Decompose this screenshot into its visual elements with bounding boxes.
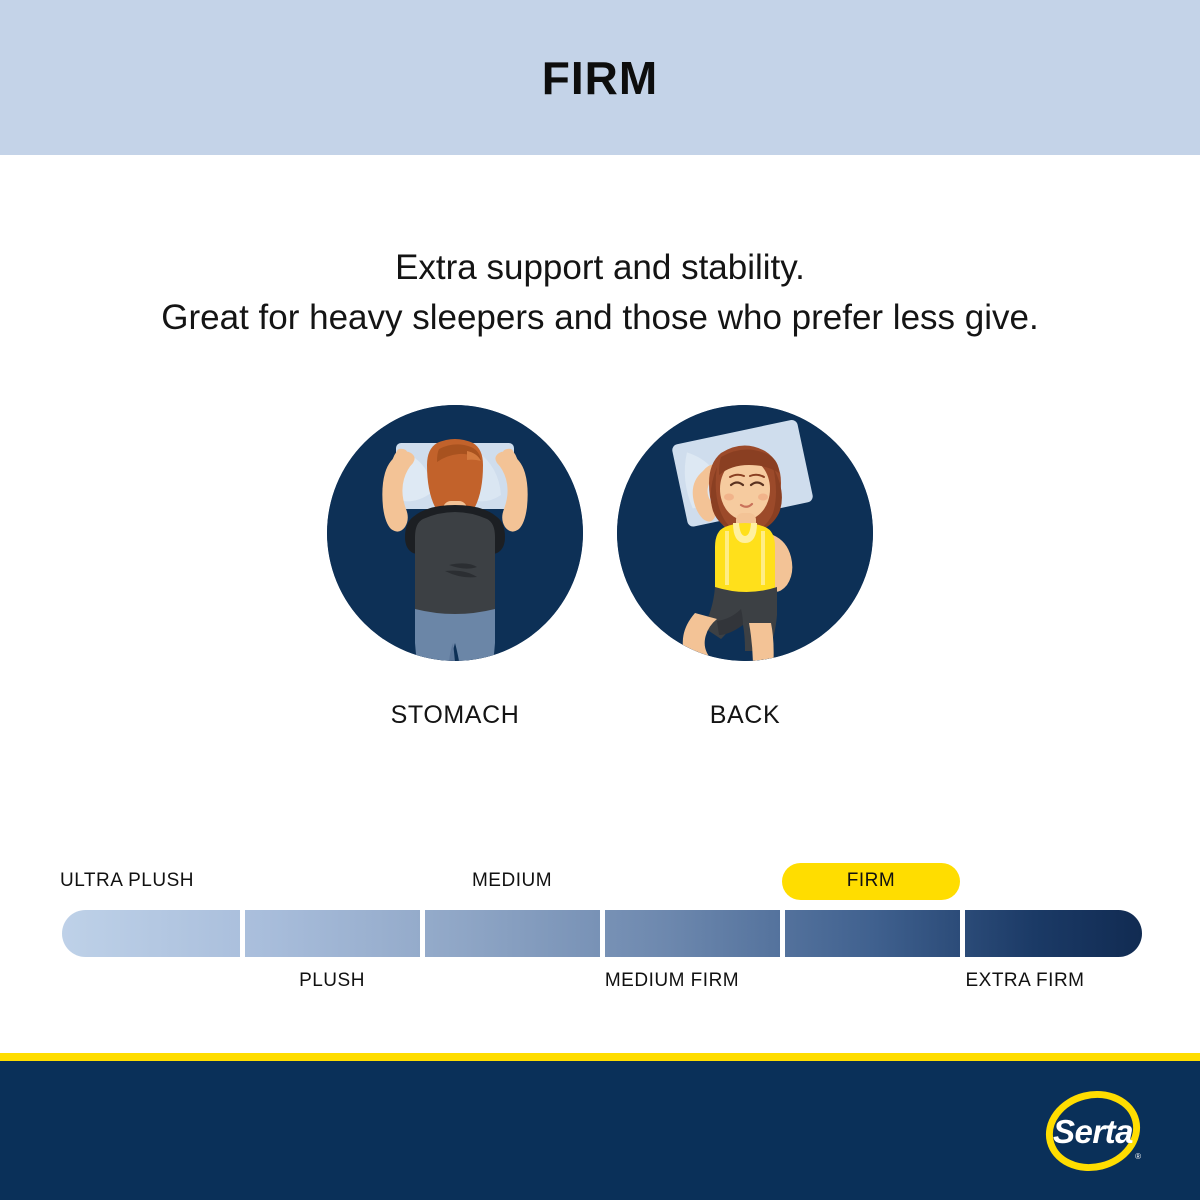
- bar-divider-3: [600, 910, 605, 957]
- footer-bar: Serta ®: [0, 1061, 1200, 1200]
- firmness-label-extra-firm[interactable]: EXTRA FIRM: [935, 970, 1115, 992]
- firmness-label-medium-firm[interactable]: MEDIUM FIRM: [582, 970, 762, 992]
- bar-divider-2: [420, 910, 425, 957]
- firmness-label-medium[interactable]: MEDIUM: [422, 870, 602, 892]
- firmness-label-plush[interactable]: PLUSH: [242, 970, 422, 992]
- serta-registered-mark: ®: [1135, 1152, 1141, 1161]
- page-title: FIRM: [542, 51, 658, 105]
- subtitle-block: Extra support and stability. Great for h…: [0, 243, 1200, 342]
- firmness-labels-top: ULTRA PLUSH MEDIUM FIRM: [0, 860, 1200, 902]
- firmness-label-ultra-plush[interactable]: ULTRA PLUSH: [60, 870, 194, 892]
- sleeper-card-back: BACK: [615, 405, 875, 750]
- bar-divider-1: [240, 910, 245, 957]
- page-header: FIRM: [0, 0, 1200, 155]
- serta-logo-text: Serta: [1041, 1082, 1145, 1182]
- firmness-labels-bottom: PLUSH MEDIUM FIRM EXTRA FIRM: [0, 964, 1200, 1000]
- firmness-label-firm-active[interactable]: FIRM: [782, 863, 960, 900]
- bar-divider-5: [960, 910, 965, 957]
- firmness-scale: ULTRA PLUSH MEDIUM FIRM PLUSH MEDIUM FIR…: [0, 860, 1200, 1005]
- sleep-position-gallery: STOMACH: [0, 405, 1200, 750]
- sleeper-caption-back: BACK: [710, 701, 780, 730]
- subtitle-line-2: Great for heavy sleepers and those who p…: [0, 293, 1200, 343]
- back-sleeper-icon: [617, 405, 873, 661]
- footer-accent-stripe: [0, 1053, 1200, 1061]
- stomach-sleeper-icon: [327, 405, 583, 661]
- subtitle-line-1: Extra support and stability.: [0, 243, 1200, 293]
- bar-divider-4: [780, 910, 785, 957]
- sleeper-card-stomach: STOMACH: [325, 405, 585, 750]
- sleeper-caption-stomach: STOMACH: [391, 701, 520, 730]
- serta-logo[interactable]: Serta ®: [1041, 1081, 1145, 1181]
